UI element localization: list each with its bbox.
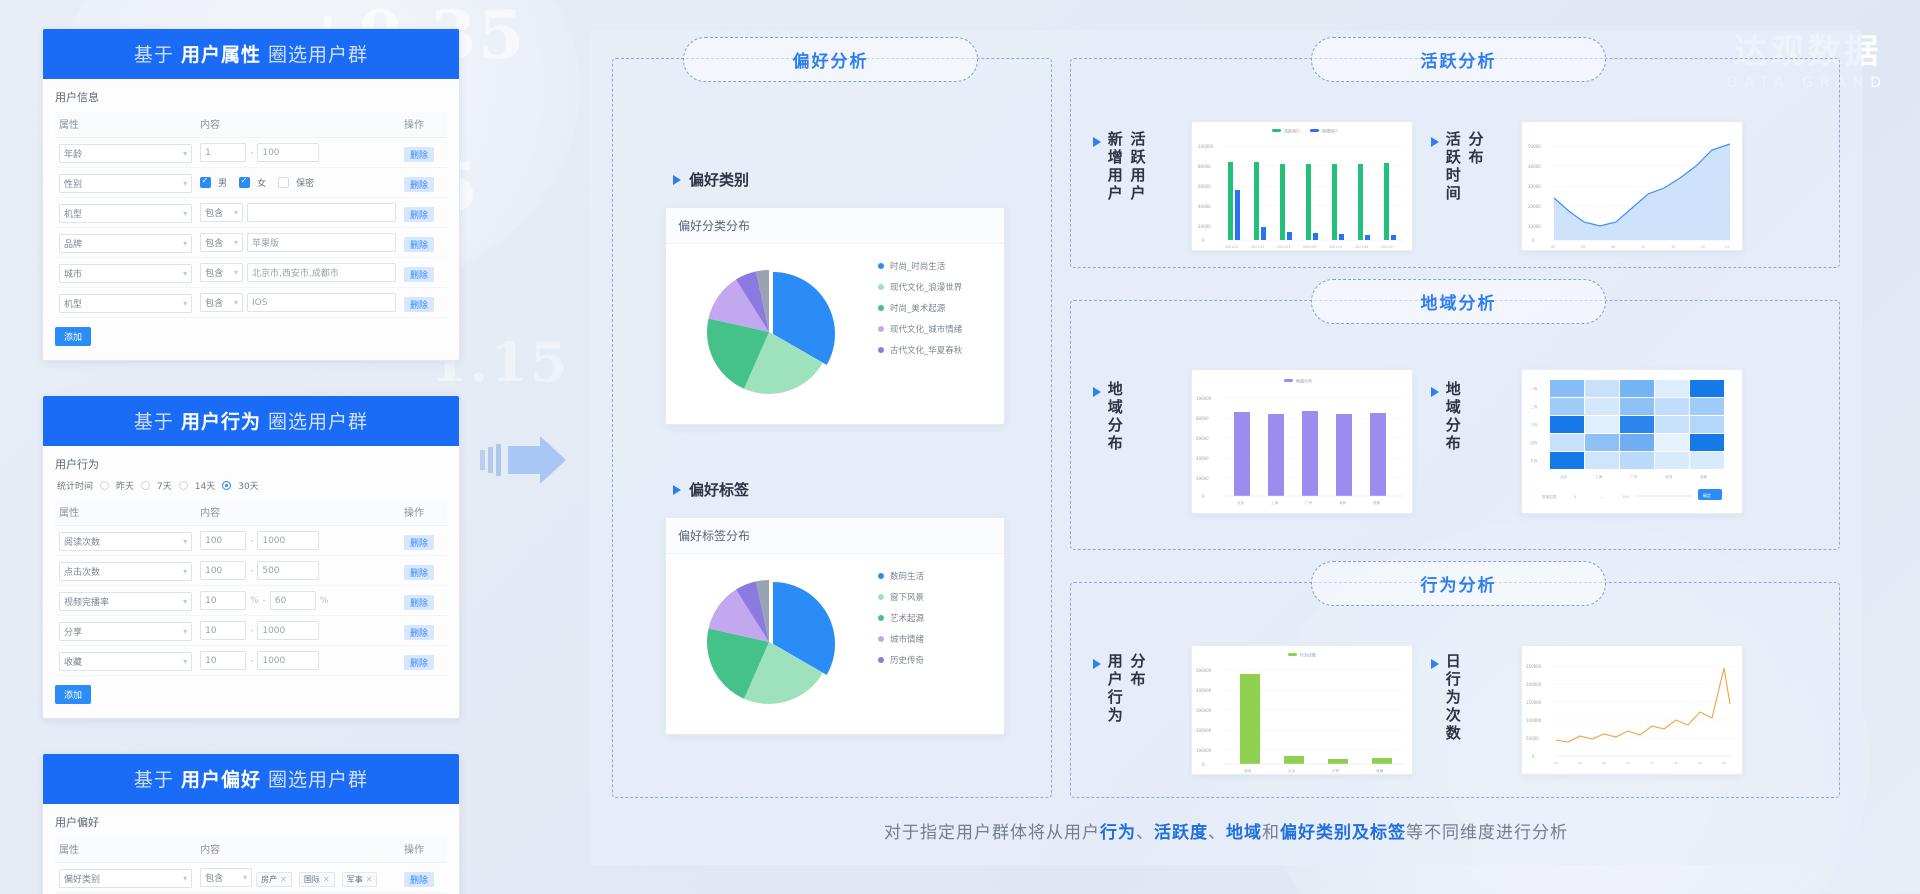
range-to-input[interactable]: 1000 (257, 531, 319, 550)
preference-tag-chart-card: 偏好标签分布 数码生活 窗下风景 艺术起源 城市情绪 历史传奇 (665, 517, 1005, 735)
card-title-highlight: 用户行为 (181, 411, 261, 433)
range-dash-icon: - (250, 626, 253, 636)
range-from-input[interactable]: 1 (200, 143, 246, 162)
svg-text:60000: 60000 (1196, 436, 1209, 441)
range-from-input[interactable]: 10 (200, 591, 246, 610)
svg-text:250000: 250000 (1526, 664, 1542, 669)
triangle-icon (1431, 659, 1439, 669)
daily-behavior-line-chart: 250000200000150000 100000500000 01050913… (1522, 646, 1744, 776)
svg-text:深圳: 深圳 (1339, 500, 1347, 505)
attr-select[interactable]: 机型 (59, 294, 192, 313)
column-header-attr: 属性 (55, 837, 196, 863)
caption-part-5: 等不同维度进行分析 (1406, 823, 1568, 843)
svg-text:40000: 40000 (1528, 164, 1541, 169)
card-header-user-behavior: 基于 用户行为 圈选用户群 (43, 396, 459, 446)
svg-text:四线: 四线 (1530, 440, 1538, 445)
range-dash-icon: - (263, 596, 266, 606)
legend-dot (878, 657, 884, 663)
caption-part-1: 对于指定用户群体将从用户 (884, 823, 1100, 843)
preference-category-chart-title: 偏好分类分布 (666, 208, 1004, 244)
delete-row-button[interactable]: 删除 (404, 595, 434, 610)
legend-item: 现代文化_浪漫世界 (878, 281, 962, 293)
triangle-icon (1093, 137, 1101, 147)
svg-text:上海: 上海 (1595, 474, 1603, 479)
legend-label: 窗下风景 (890, 591, 924, 603)
svg-text:0: 0 (1532, 238, 1535, 243)
preference-tag-label: 偏好标签 (689, 479, 749, 500)
stage-caption: 对于指定用户群体将从用户行为、活跃度、地域和偏好类别及标签等不同维度进行分析 (590, 818, 1862, 843)
range-from-input[interactable]: 10 (200, 621, 246, 640)
svg-text:40000: 40000 (1196, 456, 1209, 461)
caption-part-4: 和 (1262, 823, 1280, 843)
range-to-input[interactable]: 100 (257, 143, 319, 162)
svg-text:2021-05: 2021-05 (1329, 245, 1342, 249)
svg-text:400000: 400000 (1196, 688, 1212, 693)
legend-item: 时尚_美术起源 (878, 302, 962, 314)
card-title-prefix: 基于 (134, 769, 174, 791)
range-to-input[interactable]: 500 (257, 561, 319, 580)
svg-text:20: 20 (1701, 245, 1705, 249)
table-row: 分享 10 - 1000 删除 (55, 616, 447, 646)
svg-text:100: 100 (1622, 495, 1630, 499)
tag-chip[interactable]: 国际✕ (299, 872, 335, 887)
legend-dot (878, 305, 884, 311)
preference-analysis-box: 偏好分析 偏好类别 偏好分类分布 时尚_时尚生活 现代文化_浪漫世界 (612, 58, 1052, 798)
caption-highlight-3: 地域 (1226, 823, 1262, 843)
caption-part-3: 、 (1208, 823, 1226, 843)
radio-7d[interactable] (141, 481, 150, 490)
checkbox-secret[interactable] (278, 177, 289, 188)
activity-vlabel-1: 新增用户 (1105, 131, 1124, 203)
value-input[interactable]: IOS (247, 293, 396, 312)
tag-remove-icon[interactable]: ✕ (280, 875, 287, 884)
region-vlabel-1: 地域分布 (1105, 381, 1124, 453)
delete-row-button[interactable]: 删除 (404, 625, 434, 640)
svg-text:10000: 10000 (1528, 224, 1541, 229)
delete-row-button[interactable]: 删除 (404, 177, 434, 192)
card-user-preference: 基于 用户偏好 圈选用户群 用户偏好 属性 内容 操作 偏好类别 包含 房产✕ (42, 753, 460, 894)
legend-label: 城市情绪 (890, 633, 924, 645)
legend-item: 古代文化_华夏春秋 (878, 344, 962, 356)
preference-category-label: 偏好类别 (689, 169, 749, 190)
delete-row-button[interactable]: 删除 (404, 655, 434, 670)
attr-select[interactable]: 机型 (59, 204, 192, 223)
svg-text:行为次数: 行为次数 (1300, 652, 1316, 658)
svg-text:五线: 五线 (1530, 458, 1538, 463)
activity-vlabel-2: 活跃用户 (1128, 131, 1147, 203)
legend-item: 窗下风景 (878, 591, 924, 603)
condition-select[interactable]: 包含 (200, 868, 252, 887)
value-input[interactable]: 苹果版 (247, 233, 396, 252)
tag-chip[interactable]: 军事✕ (342, 872, 378, 887)
radio-30d[interactable] (222, 481, 231, 490)
preference-category-legend: 时尚_时尚生活 现代文化_浪漫世界 时尚_美术起源 现代文化_城市情绪 古代文化… (878, 260, 962, 365)
svg-text:17: 17 (1650, 761, 1654, 765)
activity-analysis-box: 活跃分析 新增用户 活跃用户 10000080000 6000040000 20… (1070, 58, 1840, 268)
table-row: 视频完播率 10 % - 60 % 删除 (55, 586, 447, 616)
svg-text:50000: 50000 (1526, 736, 1539, 741)
region-analysis-pill: 地域分析 (1311, 279, 1606, 324)
analysis-stage: 偏好分析 偏好类别 偏好分类分布 时尚_时尚生活 现代文化_浪漫世界 (590, 30, 1862, 865)
condition-select[interactable]: 包含 (200, 203, 243, 222)
svg-text:0: 0 (1574, 495, 1577, 499)
legend-item: 历史传奇 (878, 654, 924, 666)
svg-text:150000: 150000 (1526, 700, 1542, 705)
preference-tag-heading: 偏好标签 (673, 479, 749, 500)
condition-select[interactable]: 包含 (200, 293, 243, 312)
legend-dot (878, 615, 884, 621)
attr-select[interactable]: 性别 (59, 174, 192, 193)
attr-select[interactable]: 城市 (59, 264, 192, 283)
checkbox-male[interactable] (200, 177, 211, 188)
preference-tag-chart-title: 偏好标签分布 (666, 518, 1004, 554)
tag-label: 军事 (347, 874, 363, 885)
time-range-radio-group: 统计时间 昨天 7天 14天 30天 (57, 479, 447, 492)
time-range-label: 统计时间 (57, 479, 93, 492)
preference-tag-legend: 数码生活 窗下风景 艺术起源 城市情绪 历史传奇 (878, 570, 924, 675)
preference-category-chart-card: 偏好分类分布 时尚_时尚生活 现代文化_浪漫世界 时尚_美术起源 现代文化_城市… (665, 207, 1005, 425)
tag-label: 国际 (304, 874, 320, 885)
card-title-suffix: 圈选用户群 (268, 44, 368, 66)
table-row: 偏好类别 包含 房产✕ 国际✕ 军事✕ 删除 (55, 863, 447, 893)
triangle-icon (673, 175, 681, 185)
table-row: 机型 包含 删除 (55, 198, 447, 228)
preference-analysis-pill: 偏好分析 (683, 37, 978, 82)
column-header-attr: 属性 (55, 112, 196, 138)
svg-text:100000: 100000 (1526, 718, 1542, 723)
svg-text:80000: 80000 (1198, 164, 1211, 169)
column-header-op: 操作 (400, 112, 447, 138)
region-bar-chart: 1000008000060000 40000200000 北京上海广州 深圳成都 (1192, 370, 1414, 515)
legend-dot (878, 326, 884, 332)
table-header-row: 属性 内容 操作 (55, 837, 447, 863)
legend-item: 数码生活 (878, 570, 924, 582)
delete-row-button[interactable]: 删除 (404, 267, 434, 282)
table-header-row: 属性 内容 操作 (55, 112, 447, 138)
range-to-input[interactable]: 1000 (257, 621, 319, 640)
caption-part-2: 、 (1136, 823, 1154, 843)
legend-label: 数码生活 (890, 570, 924, 582)
radio-yesterday[interactable] (100, 481, 109, 490)
delete-row-button[interactable]: 删除 (404, 565, 434, 580)
radio-14d[interactable] (179, 481, 188, 490)
svg-text:成都: 成都 (1373, 500, 1381, 505)
delete-row-button[interactable]: 删除 (404, 207, 434, 222)
column-header-attr: 属性 (55, 500, 196, 526)
radio-label-7d: 7天 (157, 479, 172, 492)
card-title-suffix: 圈选用户群 (268, 769, 368, 791)
svg-text:收藏: 收藏 (1376, 768, 1384, 773)
attr-select[interactable]: 视频完播率 (59, 592, 192, 611)
value-input[interactable]: 北京市,西安市,成都市 (247, 263, 396, 282)
svg-text:100000: 100000 (1196, 748, 1212, 753)
attr-select[interactable]: 收藏 (59, 652, 192, 671)
percent-unit-1: % (250, 596, 259, 606)
svg-text:21: 21 (1674, 761, 1678, 765)
card-user-behavior: 基于 用户行为 圈选用户群 用户行为 统计时间 昨天 7天 14天 30天 属性… (42, 395, 460, 719)
svg-text:13: 13 (1626, 761, 1630, 765)
svg-text:三线: 三线 (1530, 422, 1538, 427)
svg-text:25: 25 (1698, 761, 1702, 765)
card-title-prefix: 基于 (134, 44, 174, 66)
activity-analysis-pill: 活跃分析 (1311, 37, 1606, 82)
legend-label: 古代文化_华夏春秋 (890, 344, 962, 356)
delete-row-button[interactable]: 删除 (404, 237, 434, 252)
tag-chip[interactable]: 房产✕ (256, 872, 292, 887)
caption-highlight-4: 偏好类别及标签 (1280, 823, 1406, 843)
region-analysis-box: 地域分析 地域分布 1000008000060000 40000200000 (1070, 300, 1840, 550)
svg-text:确定: 确定 (1703, 492, 1711, 498)
svg-text:29: 29 (1722, 761, 1726, 765)
range-dash-icon: - (250, 566, 253, 576)
attr-select[interactable]: 品牌 (59, 234, 192, 253)
card-header-user-attributes: 基于 用户属性 圈选用户群 (43, 29, 459, 79)
attr-select[interactable]: 偏好类别 (59, 869, 192, 888)
table-header-row: 属性 内容 操作 (55, 500, 447, 526)
radio-label-14d: 14天 (195, 479, 215, 492)
svg-text:200000: 200000 (1196, 728, 1212, 733)
legend-label: 现代文化_城市情绪 (890, 323, 962, 335)
caption-highlight-2: 活跃度 (1154, 823, 1208, 843)
table-row: 性别 男 女 保密 删除 (55, 168, 447, 198)
attr-select[interactable]: 分享 (59, 622, 192, 641)
activity-bar-chart-frame: 10000080000 6000040000 200000 (1191, 121, 1413, 251)
flow-arrow-icon (480, 430, 570, 490)
range-from-input[interactable]: 100 (200, 531, 246, 550)
triangle-icon (1431, 137, 1439, 147)
tag-label: 房产 (261, 874, 277, 885)
range-to-input[interactable]: 1000 (257, 651, 319, 670)
svg-text:2021-04: 2021-04 (1303, 245, 1316, 249)
legend-dot (878, 284, 884, 290)
svg-text:北京: 北京 (1237, 500, 1245, 505)
caption-highlight-1: 行为 (1100, 823, 1136, 843)
triangle-icon (1431, 387, 1439, 397)
svg-text:阅读: 阅读 (1244, 768, 1252, 773)
behavior-vlabel-1: 用户行为 (1105, 653, 1124, 725)
svg-text:00: 00 (1551, 245, 1555, 249)
triangle-icon (1093, 387, 1101, 397)
card-title-highlight: 用户偏好 (181, 769, 261, 791)
triangle-icon (1093, 659, 1101, 669)
activity-time-vlabel-2: 分布 (1466, 131, 1485, 167)
svg-text:北京: 北京 (1560, 474, 1568, 479)
table-row: 城市 包含 北京市,西安市,成都市 删除 (55, 258, 447, 288)
daily-behavior-chart-frame: 250000200000150000 100000500000 01050913… (1521, 645, 1743, 775)
delete-row-button[interactable]: 删除 (404, 872, 434, 887)
section-label-user-info: 用户信息 (55, 89, 447, 105)
svg-text:100000: 100000 (1198, 144, 1214, 149)
value-input[interactable] (247, 203, 396, 222)
checkbox-female[interactable] (239, 177, 250, 188)
svg-text:23: 23 (1725, 245, 1729, 249)
radio-label-yesterday: 昨天 (116, 479, 134, 492)
range-dash-icon: - (250, 148, 253, 158)
table-row: 年龄 1 - 100 删除 (55, 138, 447, 168)
svg-text:500000: 500000 (1196, 668, 1212, 673)
svg-text:新增用户: 新增用户 (1322, 128, 1338, 134)
svg-text:广州: 广州 (1630, 474, 1638, 479)
behavior-analysis-box: 行为分析 用户行为 分布 500000400000300000 20000010… (1070, 582, 1840, 798)
attr-select[interactable]: 点击次数 (59, 562, 192, 581)
region-heatmap-frame: 一线二线三线 四线五线 (1521, 369, 1743, 514)
legend-item: 城市情绪 (878, 633, 924, 645)
legend-dot (878, 347, 884, 353)
radio-label-30d: 30天 (238, 479, 258, 492)
preference-filter-table: 属性 内容 操作 偏好类别 包含 房产✕ 国际✕ 军事✕ 删除 (55, 837, 447, 894)
card-title-suffix: 圈选用户群 (268, 411, 368, 433)
left-panel-column: 基于 用户属性 圈选用户群 用户信息 属性 内容 操作 年龄 1 - 100 (42, 28, 460, 894)
column-header-content: 内容 (196, 112, 400, 138)
add-condition-button[interactable]: 添加 (55, 685, 91, 704)
activity-time-chart-frame: 500004000030000 20000100000 000408 12162… (1521, 121, 1743, 251)
legend-item: 时尚_时尚生活 (878, 260, 962, 272)
svg-text:成都: 成都 (1700, 474, 1708, 479)
card-header-user-preference: 基于 用户偏好 圈选用户群 (43, 754, 459, 804)
legend-label: 时尚_美术起源 (890, 302, 945, 314)
preference-category-heading: 偏好类别 (673, 169, 749, 190)
svg-text:0: 0 (1202, 238, 1205, 243)
delete-row-button[interactable]: 删除 (404, 297, 434, 312)
behavior-vlabel-2: 分布 (1128, 653, 1147, 689)
region-heatmap-chart: 一线二线三线 四线五线 (1522, 370, 1744, 515)
table-row: 收藏 10 - 1000 删除 (55, 646, 447, 676)
svg-text:深圳: 深圳 (1665, 474, 1673, 479)
svg-text:16: 16 (1671, 245, 1675, 249)
checkbox-label-secret: 保密 (296, 176, 314, 189)
svg-text:300000: 300000 (1196, 708, 1212, 713)
column-header-content: 内容 (196, 500, 400, 526)
section-label-user-preference: 用户偏好 (55, 814, 447, 830)
delete-row-button[interactable]: 删除 (404, 147, 434, 162)
legend-label: 时尚_时尚生活 (890, 260, 945, 272)
svg-text:20000: 20000 (1196, 476, 1209, 481)
svg-text:80000: 80000 (1196, 416, 1209, 421)
behavior-bar-chart: 500000400000300000 2000001000000 阅读点击分享收… (1192, 646, 1414, 776)
svg-text:活跃用户: 活跃用户 (1284, 128, 1300, 134)
attr-select[interactable]: 阅读次数 (59, 532, 192, 551)
svg-text:0: 0 (1202, 494, 1205, 499)
behavior-filter-table: 属性 内容 操作 阅读次数 100 - 1000 删除 点击次数 (55, 500, 447, 676)
svg-text:08: 08 (1611, 245, 1615, 249)
svg-text:点击: 点击 (1288, 768, 1296, 773)
svg-text:2021-07: 2021-07 (1381, 245, 1394, 249)
svg-text:60000: 60000 (1198, 184, 1211, 189)
svg-text:50000: 50000 (1528, 144, 1541, 149)
legend-item: 艺术起源 (878, 612, 924, 624)
svg-text:0: 0 (1532, 754, 1535, 759)
svg-text:—: — (1600, 495, 1604, 499)
svg-text:上海: 上海 (1271, 500, 1279, 505)
svg-text:二线: 二线 (1530, 404, 1538, 409)
section-label-user-behavior: 用户行为 (55, 456, 447, 472)
svg-text:地域分布: 地域分布 (1296, 378, 1312, 384)
behavior-bar-chart-frame: 500000400000300000 2000001000000 阅读点击分享收… (1191, 645, 1413, 775)
svg-text:04: 04 (1581, 245, 1585, 249)
svg-text:40000: 40000 (1198, 204, 1211, 209)
add-condition-button[interactable]: 添加 (55, 327, 91, 346)
tag-remove-icon[interactable]: ✕ (323, 875, 330, 884)
range-dash-icon: - (250, 536, 253, 546)
card-user-attributes: 基于 用户属性 圈选用户群 用户信息 属性 内容 操作 年龄 1 - 100 (42, 28, 460, 361)
legend-item: 现代文化_城市情绪 (878, 323, 962, 335)
table-row: 点击次数 100 - 500 删除 (55, 556, 447, 586)
legend-dot (878, 594, 884, 600)
range-from-input[interactable]: 10 (200, 651, 246, 670)
column-header-op: 操作 (400, 837, 447, 863)
region-vlabel-2: 地域分布 (1443, 381, 1462, 453)
condition-select[interactable]: 包含 (200, 263, 243, 282)
table-row: 机型 包含 IOS 删除 (55, 288, 447, 318)
checkbox-label-female: 女 (257, 176, 266, 189)
card-title-highlight: 用户属性 (181, 44, 261, 66)
legend-label: 现代文化_浪漫世界 (890, 281, 962, 293)
svg-text:20000: 20000 (1528, 204, 1541, 209)
region-dist-item-1: 地域分布 (1093, 381, 1180, 453)
percent-unit-2: % (320, 596, 329, 606)
range-to-input[interactable]: 60 (270, 591, 316, 610)
preference-tag-pie-chart (666, 554, 1006, 729)
card-title-prefix: 基于 (134, 411, 174, 433)
svg-text:12: 12 (1641, 245, 1645, 249)
svg-text:0: 0 (1202, 762, 1205, 767)
legend-label: 历史传奇 (890, 654, 924, 666)
svg-text:2021-03: 2021-03 (1277, 245, 1290, 249)
daily-behavior-vlabel: 日行为次数 (1443, 653, 1462, 743)
condition-select[interactable]: 包含 (200, 233, 243, 252)
attr-select[interactable]: 年龄 (59, 144, 192, 163)
activity-users-bar-chart: 10000080000 6000040000 200000 (1192, 122, 1414, 252)
triangle-icon (673, 485, 681, 495)
svg-text:一线: 一线 (1530, 386, 1538, 391)
legend-dot (878, 263, 884, 269)
legend-dot (878, 636, 884, 642)
svg-text:2021-01: 2021-01 (1225, 245, 1238, 249)
tag-remove-icon[interactable]: ✕ (366, 875, 373, 884)
activity-time-area-chart: 500004000030000 20000100000 000408 12162… (1522, 122, 1744, 252)
svg-text:20000: 20000 (1198, 224, 1211, 229)
svg-text:数值范围: 数值范围 (1542, 494, 1557, 499)
column-header-content: 内容 (196, 837, 400, 863)
svg-text:01: 01 (1554, 761, 1558, 765)
svg-text:分享: 分享 (1332, 768, 1340, 773)
table-row: 品牌 包含 苹果版 删除 (55, 228, 447, 258)
svg-text:05: 05 (1578, 761, 1582, 765)
svg-text:09: 09 (1602, 761, 1606, 765)
svg-text:2021-06: 2021-06 (1355, 245, 1368, 249)
svg-text:200000: 200000 (1526, 682, 1542, 687)
behavior-analysis-pill: 行为分析 (1311, 561, 1606, 606)
region-bar-chart-frame: 1000008000060000 40000200000 北京上海广州 深圳成都 (1191, 369, 1413, 514)
range-dash-icon: - (250, 656, 253, 666)
delete-row-button[interactable]: 删除 (404, 535, 434, 550)
legend-label: 艺术起源 (890, 612, 924, 624)
checkbox-label-male: 男 (218, 176, 227, 189)
svg-text:100000: 100000 (1196, 396, 1212, 401)
svg-text:30000: 30000 (1528, 184, 1541, 189)
legend-dot (878, 573, 884, 579)
table-row: 阅读次数 100 - 1000 删除 (55, 526, 447, 556)
svg-text:广州: 广州 (1305, 500, 1313, 505)
region-dist-item-2: 地域分布 (1431, 381, 1518, 453)
svg-text:2021-02: 2021-02 (1251, 245, 1264, 249)
range-from-input[interactable]: 100 (200, 561, 246, 580)
column-header-op: 操作 (400, 500, 447, 526)
activity-time-vlabel-1: 活跃时间 (1443, 131, 1462, 203)
attribute-filter-table: 属性 内容 操作 年龄 1 - 100 删除 性别 男 (55, 112, 447, 318)
